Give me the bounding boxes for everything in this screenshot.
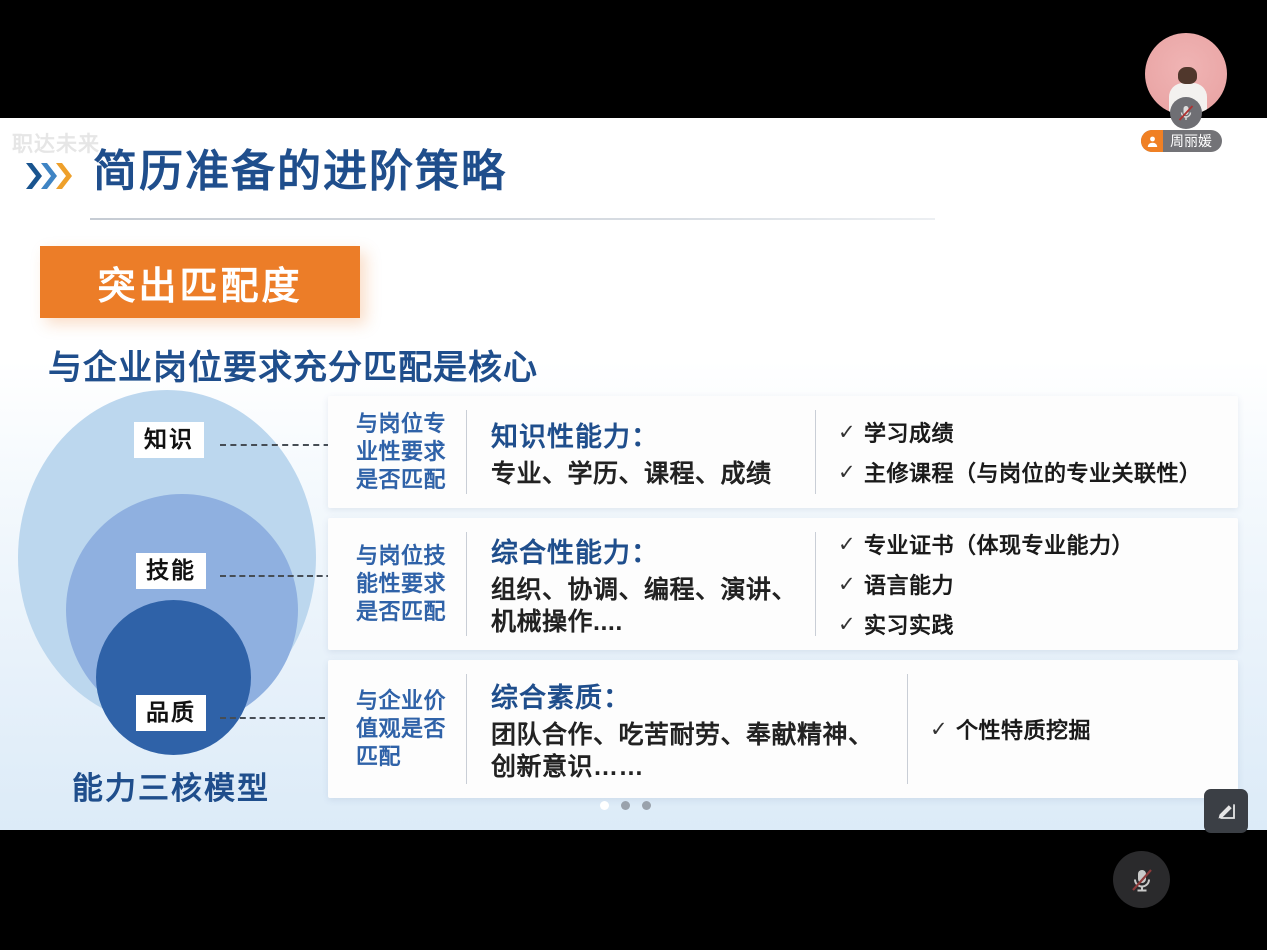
avatar-mic-muted-badge (1170, 97, 1202, 129)
mute-toggle-button[interactable] (1113, 851, 1170, 908)
person-icon (1141, 130, 1163, 152)
capability-card[interactable]: 与岗位技能性要求是否匹配 综合性能力： 组织、协调、编程、演讲、 机械操作...… (328, 518, 1238, 650)
card-body: 组织、协调、编程、演讲、 机械操作.... (491, 574, 815, 638)
card-heading: 综合性能力： (491, 531, 815, 570)
connector-line-quality (220, 717, 325, 719)
ring-label-quality: 品质 (136, 695, 206, 731)
screen-root: 职达未来 简历准备的进阶策略 突出匹配度 与企业岗位要求充分匹配是核心 (0, 0, 1267, 950)
capability-card[interactable]: 与企业价值观是否匹配 综合素质： 团队合作、吃苦耐劳、奉献精神、 创新意识…… … (328, 660, 1238, 798)
check-item: ✓ 语言能力 (838, 568, 1238, 600)
person-glyph-icon (1146, 135, 1159, 148)
pager-dot-1[interactable] (600, 801, 609, 810)
check-icon: ✓ (838, 460, 864, 485)
participant-name-chip: 周丽媛 (1141, 130, 1222, 152)
slide-pager[interactable] (600, 801, 651, 810)
participant-name: 周丽媛 (1170, 131, 1212, 151)
participant-avatar-wrap[interactable] (1145, 33, 1227, 115)
avatar-head (1178, 67, 1197, 84)
card-condition-text: 与企业价值观是否匹配 (356, 687, 466, 771)
card-condition-text: 与岗位技能性要求是否匹配 (356, 542, 466, 626)
card-heading: 综合素质： (491, 676, 907, 715)
card-heading: 知识性能力： (491, 415, 815, 454)
capability-card[interactable]: 与岗位专业性要求是否匹配 知识性能力： 专业、学历、课程、成绩 ✓ 学习成绩 ✓… (328, 396, 1238, 508)
card-main-col: 综合素质： 团队合作、吃苦耐劳、奉献精神、 创新意识…… (467, 660, 907, 798)
check-label: 主修课程（与岗位的专业关联性） (864, 456, 1202, 488)
chevron-group (24, 161, 69, 191)
connector-line-skill (220, 575, 342, 577)
check-label: 语言能力 (864, 568, 954, 600)
card-body: 团队合作、吃苦耐劳、奉献精神、 创新意识…… (491, 719, 907, 783)
check-label: 个性特质挖掘 (956, 713, 1091, 745)
check-label: 实习实践 (864, 608, 954, 640)
slide-title: 简历准备的进阶策略 (93, 150, 507, 194)
card-condition-text: 与岗位专业性要求是否匹配 (356, 410, 466, 494)
ring-label-skill: 技能 (136, 553, 206, 589)
card-main-col: 综合性能力： 组织、协调、编程、演讲、 机械操作.... (467, 518, 815, 650)
slide-subheadline: 与企业岗位要求充分匹配是核心 (48, 340, 538, 389)
check-item: ✓ 实习实践 (838, 608, 1238, 640)
chevron-right-orange-icon (54, 161, 72, 191)
card-condition-col: 与企业价值观是否匹配 (328, 660, 466, 798)
title-divider (90, 218, 935, 220)
ring-quality (96, 600, 251, 755)
section-tag-label: 突出匹配度 (97, 255, 302, 310)
card-body: 专业、学历、课程、成绩 (491, 458, 815, 490)
check-label: 专业证书（体现专业能力） (864, 528, 1134, 560)
presentation-slide[interactable]: 职达未来 简历准备的进阶策略 突出匹配度 与企业岗位要求充分匹配是核心 (0, 118, 1267, 830)
diagram-title: 能力三核模型 (72, 763, 270, 808)
check-icon: ✓ (838, 532, 864, 557)
check-label: 学习成绩 (864, 416, 954, 448)
mic-muted-icon (1176, 103, 1196, 123)
card-condition-col: 与岗位技能性要求是否匹配 (328, 518, 466, 650)
check-icon: ✓ (838, 612, 864, 637)
mic-muted-icon (1127, 865, 1157, 895)
check-icon: ✓ (930, 717, 956, 742)
capability-card-list: 与岗位专业性要求是否匹配 知识性能力： 专业、学历、课程、成绩 ✓ 学习成绩 ✓… (328, 396, 1238, 808)
competency-three-core-diagram: 知识 技能 品质 能力三核模型 (14, 388, 324, 808)
card-check-col: ✓ 学习成绩 ✓ 主修课程（与岗位的专业关联性） (816, 396, 1238, 508)
check-item: ✓ 主修课程（与岗位的专业关联性） (838, 456, 1238, 488)
card-check-col: ✓ 专业证书（体现专业能力） ✓ 语言能力 ✓ 实习实践 (816, 518, 1238, 650)
pager-dot-3[interactable] (642, 801, 651, 810)
check-item: ✓ 专业证书（体现专业能力） (838, 528, 1238, 560)
check-item: ✓ 个性特质挖掘 (930, 713, 1238, 745)
slide-title-row: 简历准备的进阶策略 (24, 150, 507, 194)
pen-annotate-icon (1214, 799, 1238, 823)
check-item: ✓ 学习成绩 (838, 416, 1238, 448)
check-icon: ✓ (838, 420, 864, 445)
connector-line-knowledge (220, 444, 340, 446)
ring-label-knowledge: 知识 (134, 422, 204, 458)
card-check-col: ✓ 个性特质挖掘 (908, 660, 1238, 798)
annotate-button[interactable] (1204, 789, 1248, 833)
check-icon: ✓ (838, 572, 864, 597)
card-condition-col: 与岗位专业性要求是否匹配 (328, 396, 466, 508)
section-tag: 突出匹配度 (40, 246, 360, 318)
card-main-col: 知识性能力： 专业、学历、课程、成绩 (467, 396, 815, 508)
pager-dot-2[interactable] (621, 801, 630, 810)
